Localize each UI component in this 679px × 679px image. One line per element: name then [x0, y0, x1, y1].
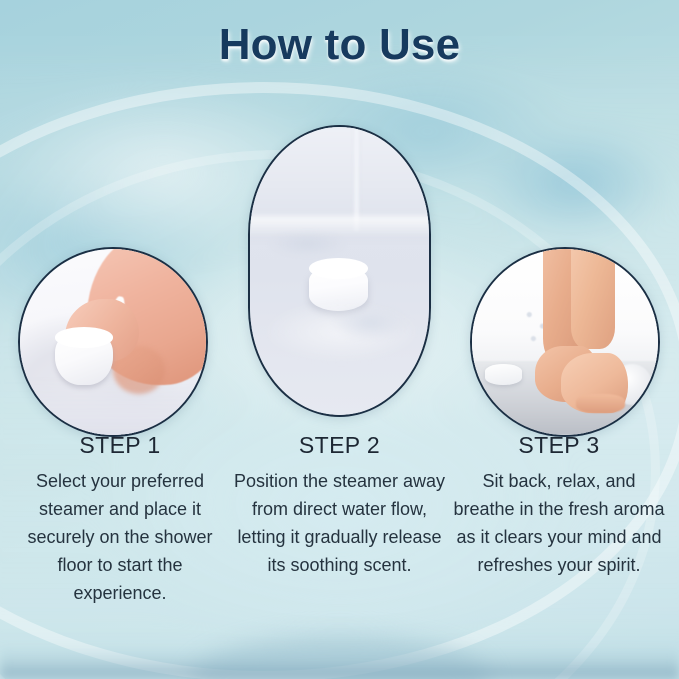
how-to-use-infographic: How to Use — [0, 0, 679, 679]
photo-3-toes — [576, 394, 624, 413]
steamer-on-shower-floor-photo — [248, 125, 431, 417]
hand-holding-steamer-photo — [18, 247, 208, 437]
photo-2-steamer-tablet-top — [309, 258, 368, 279]
photo-3-steamer-tablet — [485, 364, 522, 384]
step-3-description: Sit back, relax, and breathe in the fres… — [451, 468, 667, 580]
step-text-row: STEP 1 Select your preferred steamer and… — [0, 432, 679, 607]
photo-2-wall-seam — [352, 127, 361, 231]
photo-3-leg-right — [571, 247, 616, 349]
feet-in-shower-photo — [470, 247, 660, 437]
photo-2-water-puddle — [332, 306, 407, 341]
photo-1-backdrop — [20, 249, 206, 435]
step-1-description: Select your preferred steamer and place … — [12, 468, 228, 607]
photo-3-backdrop — [472, 249, 658, 435]
photo-1-floor — [18, 379, 208, 437]
photo-1-steamer-tablet-top — [55, 327, 113, 347]
photo-2-wall — [250, 127, 429, 225]
step-column-3: STEP 3 Sit back, relax, and breathe in t… — [451, 432, 667, 607]
step-2-description: Position the steamer away from direct wa… — [232, 468, 448, 580]
step-2-label: STEP 2 — [232, 432, 448, 459]
step-column-1: STEP 1 Select your preferred steamer and… — [12, 432, 228, 607]
step-column-2: STEP 2 Position the steamer away from di… — [232, 432, 448, 607]
photo-2-backdrop — [250, 127, 429, 415]
step-3-label: STEP 3 — [451, 432, 667, 459]
photo-2-water-sheen-top — [268, 231, 347, 257]
step-1-label: STEP 1 — [12, 432, 228, 459]
